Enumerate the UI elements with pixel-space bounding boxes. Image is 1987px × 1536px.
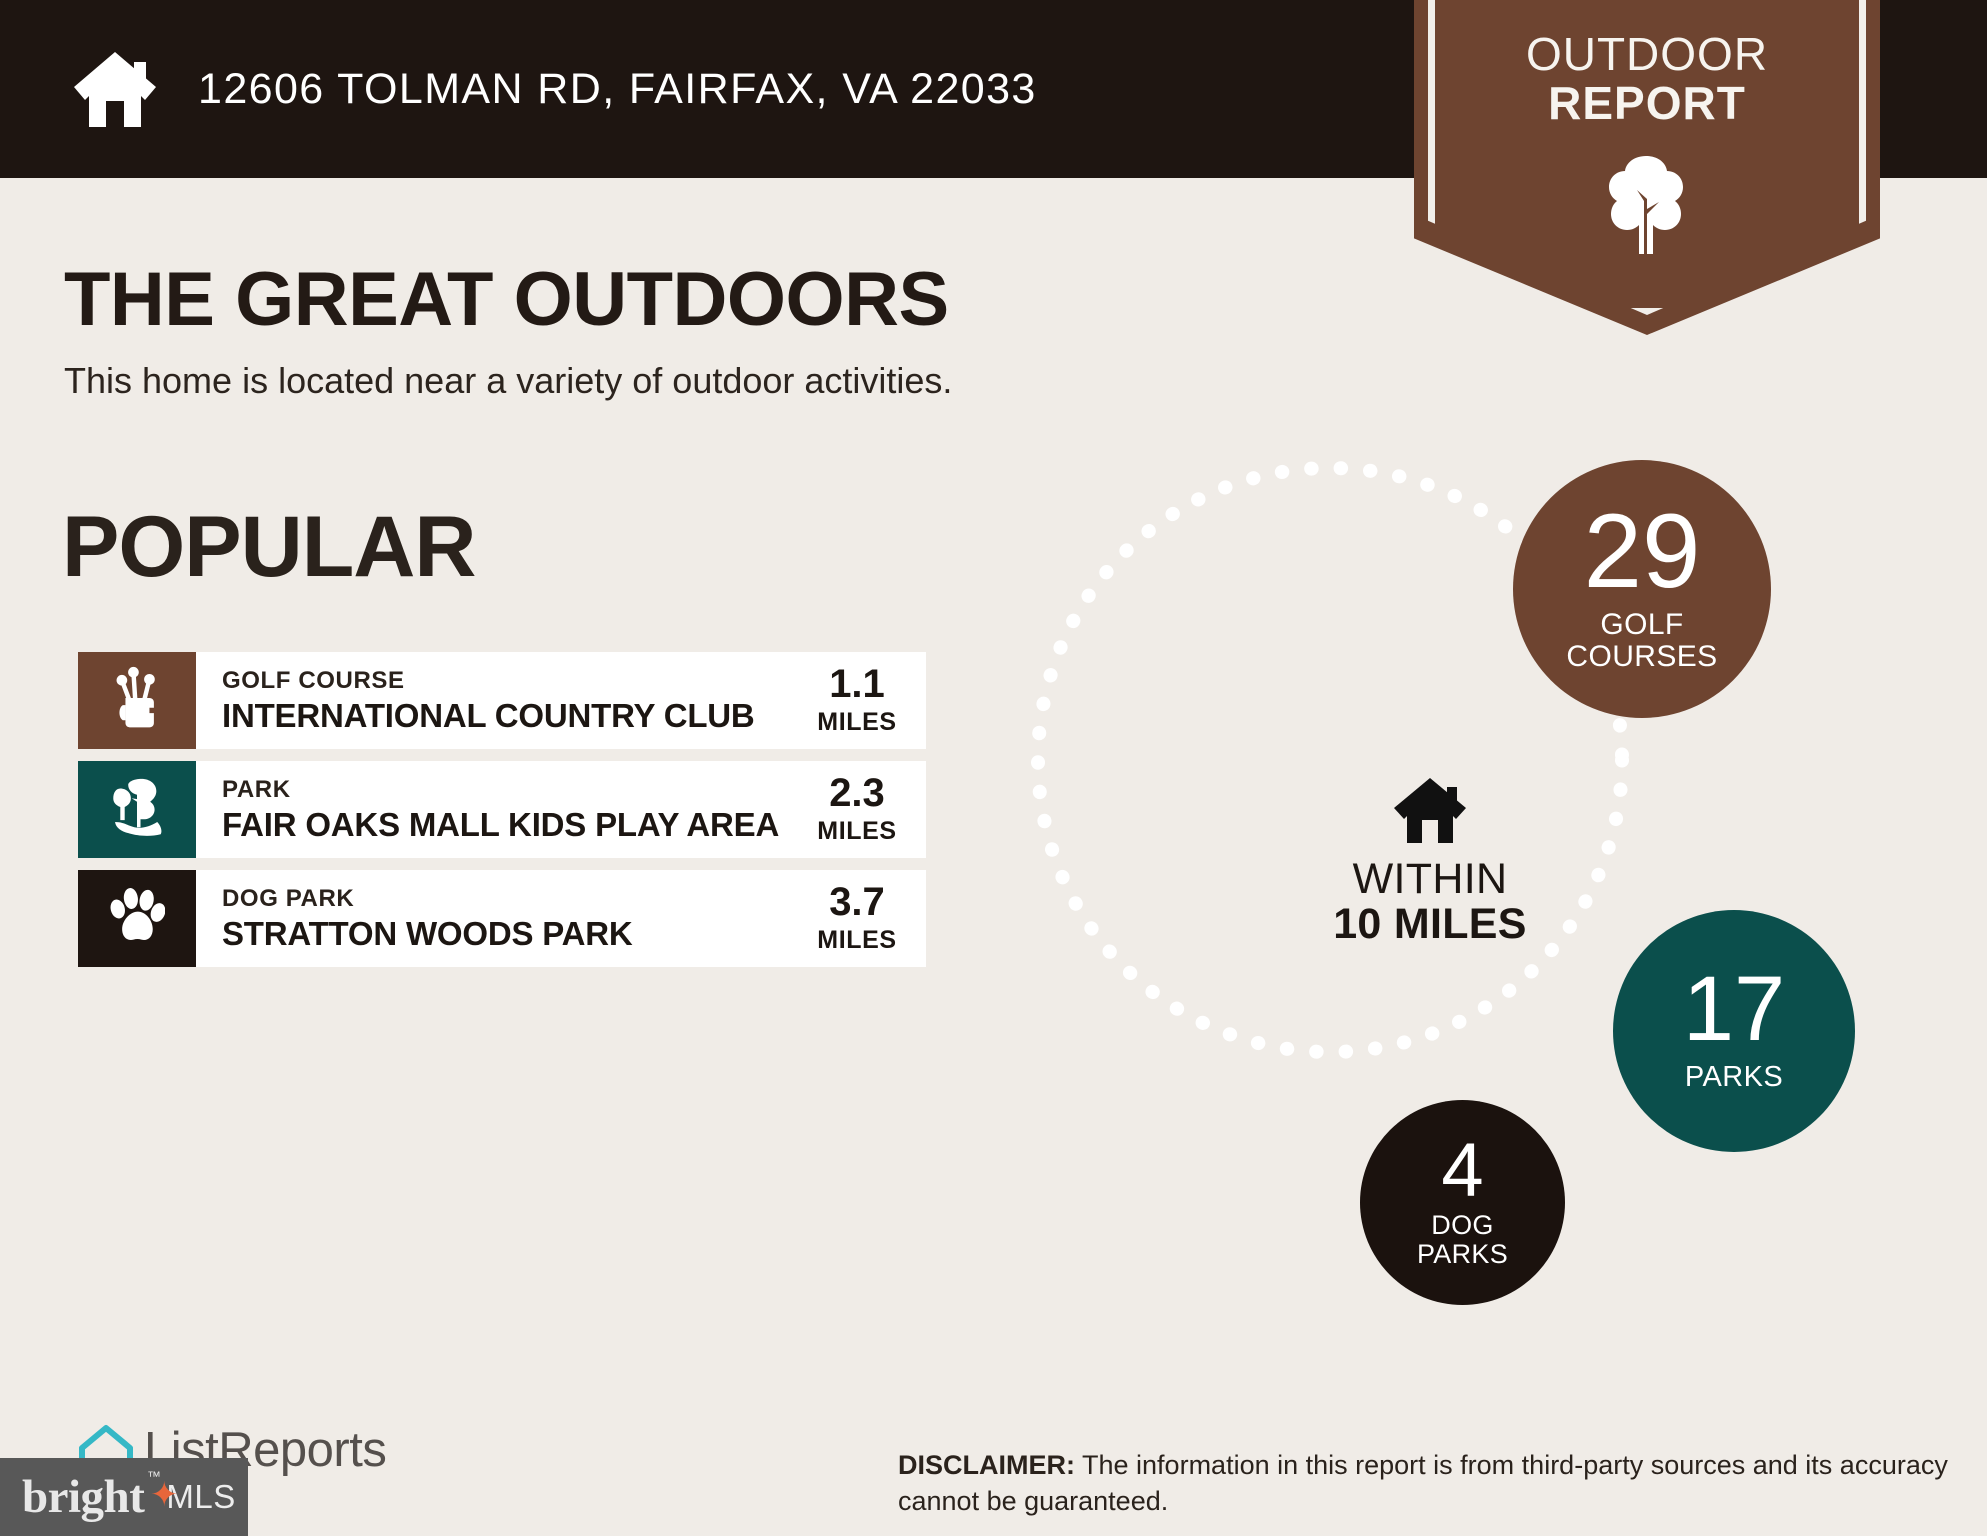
- poi-name: INTERNATIONAL COUNTRY CLUB: [222, 698, 794, 735]
- infographic-center: WITHIN 10 MILES: [1300, 775, 1560, 947]
- poi-distance-unit: MILES: [817, 926, 896, 955]
- poi-body: DOG PARK STRATTON WOODS PARK: [196, 870, 802, 967]
- bright-mls-watermark: bright ™ ✦ MLS: [0, 1458, 248, 1536]
- list-item[interactable]: GOLF COURSE INTERNATIONAL COUNTRY CLUB 1…: [78, 652, 926, 749]
- paw-print-icon: [109, 887, 165, 950]
- stat-label-line2: PARKS: [1417, 1239, 1508, 1269]
- center-label-miles: 10 MILES: [1333, 902, 1527, 947]
- badge-title: OUTDOOR REPORT: [1414, 30, 1880, 128]
- poi-distance: 1.1 MILES: [802, 652, 926, 749]
- badge-title-line1: OUTDOOR: [1414, 30, 1880, 79]
- stat-label-line2: COURSES: [1566, 640, 1717, 673]
- poi-distance: 2.3 MILES: [802, 761, 926, 858]
- stat-label: GOLF COURSES: [1566, 609, 1717, 673]
- poi-name: STRATTON WOODS PARK: [222, 916, 794, 953]
- poi-icon-tile: [78, 870, 196, 967]
- stat-circle-golf-courses[interactable]: 29 GOLF COURSES: [1513, 460, 1771, 718]
- header-address: 12606 TOLMAN RD, FAIRFAX, VA 22033: [198, 65, 1037, 114]
- poi-category: DOG PARK: [222, 884, 794, 914]
- stat-circle-dog-parks[interactable]: 4 DOG PARKS: [1360, 1100, 1565, 1305]
- page-title: THE GREAT OUTDOORS: [64, 256, 949, 343]
- golf-bag-icon: [110, 666, 164, 735]
- stat-value: 4: [1441, 1137, 1483, 1205]
- section-title-popular: POPULAR: [62, 498, 475, 597]
- stat-label: PARKS: [1685, 1061, 1783, 1094]
- stat-label-line1: GOLF: [1600, 608, 1683, 641]
- bright-mls-brand: bright ™: [22, 1470, 144, 1524]
- poi-body: PARK FAIR OAKS MALL KIDS PLAY AREA: [196, 761, 802, 858]
- page-subtitle: This home is located near a variety of o…: [64, 360, 952, 402]
- list-item[interactable]: DOG PARK STRATTON WOODS PARK 3.7 MILES: [78, 870, 926, 967]
- star-icon: ✦: [150, 1480, 180, 1510]
- poi-distance-unit: MILES: [817, 708, 896, 737]
- stat-value: 17: [1683, 968, 1785, 1051]
- disclaimer: DISCLAIMER: The information in this repo…: [898, 1448, 1958, 1519]
- poi-category: PARK: [222, 775, 794, 805]
- disclaimer-label: DISCLAIMER:: [898, 1450, 1075, 1480]
- stat-label: DOG PARKS: [1417, 1211, 1508, 1268]
- poi-name: FAIR OAKS MALL KIDS PLAY AREA: [222, 807, 794, 844]
- poi-icon-tile: [78, 652, 196, 749]
- center-label-within: WITHIN: [1353, 857, 1508, 902]
- popular-list: GOLF COURSE INTERNATIONAL COUNTRY CLUB 1…: [78, 652, 926, 979]
- tree-icon: [1596, 152, 1696, 257]
- house-icon: [72, 49, 158, 129]
- stat-value: 29: [1584, 505, 1701, 600]
- poi-distance-value: 1.1: [829, 664, 885, 704]
- badge-title-line2: REPORT: [1414, 79, 1880, 128]
- stat-circle-parks[interactable]: 17 PARKS: [1613, 910, 1855, 1152]
- poi-distance-value: 3.7: [829, 882, 885, 922]
- stat-label-line1: DOG: [1431, 1210, 1493, 1240]
- bright-mls-brand-text: bright: [22, 1471, 144, 1523]
- poi-distance-unit: MILES: [817, 817, 896, 846]
- poi-category: GOLF COURSE: [222, 666, 794, 696]
- poi-body: GOLF COURSE INTERNATIONAL COUNTRY CLUB: [196, 652, 802, 749]
- list-item[interactable]: PARK FAIR OAKS MALL KIDS PLAY AREA 2.3 M…: [78, 761, 926, 858]
- poi-distance: 3.7 MILES: [802, 870, 926, 967]
- trees-icon: [108, 776, 166, 843]
- poi-icon-tile: [78, 761, 196, 858]
- house-icon: [1392, 775, 1468, 845]
- poi-distance-value: 2.3: [829, 773, 885, 813]
